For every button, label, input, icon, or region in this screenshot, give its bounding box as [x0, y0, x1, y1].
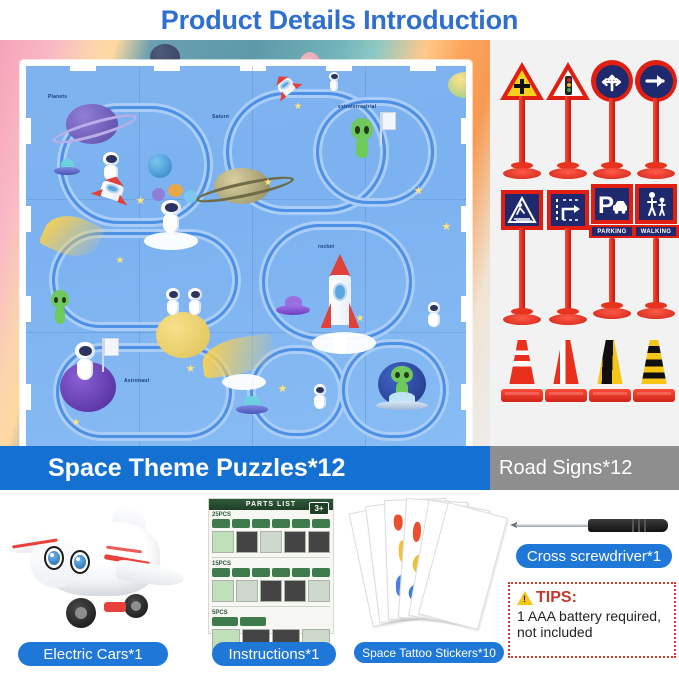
puzzles-banner-label: Space Theme Puzzles*12: [0, 454, 345, 483]
sign-crossroad: [496, 62, 548, 184]
traffic-light-sign-icon: [546, 62, 590, 100]
flag-icon-2: [102, 338, 120, 372]
puzzle-nub-top-5: [410, 60, 436, 71]
puzzle-nub-top-2: [154, 60, 180, 71]
puzzle-nub-top-4: [326, 60, 352, 71]
puzzle-nub-right-4: [461, 384, 472, 410]
star-icon-5: [442, 222, 451, 231]
flag-icon-1: [380, 112, 397, 146]
sign-turn-right: [630, 60, 679, 184]
astronaut-icon-8: [310, 384, 330, 410]
astronaut-icon-6: [424, 302, 444, 328]
tips-header: TIPS:: [517, 589, 667, 607]
puzzle-nub-right-3: [461, 296, 472, 322]
turn-right-sign-icon: [635, 60, 677, 102]
puzzle-nub-left-2: [20, 206, 31, 232]
puzzle-label-astronaut: Astronaut: [124, 378, 149, 384]
instructions-sheet: PARTS LIST 3+ 25PCS 15PCS: [208, 498, 334, 634]
warning-icon: [517, 591, 533, 605]
puzzle-label-planets: Planets: [48, 94, 67, 100]
astronaut-icon-5: [184, 288, 206, 316]
balloon-icon-3: [184, 190, 197, 203]
page-title-bar: Product Details Introduction: [0, 0, 679, 40]
cross-screwdriver-cell: Cross screwdriver*1 TIPS: 1 AAA battery …: [504, 490, 679, 682]
instructions-label[interactable]: Instructions*1: [212, 642, 336, 666]
instructions-section-2-chips: [209, 568, 333, 579]
instructions-section-1-tiles: [209, 530, 333, 556]
ufo-icon-4: [376, 392, 428, 412]
cross-screwdriver-icon: [510, 516, 670, 536]
space-tattoo-stickers-label[interactable]: Space Tattoo Stickers*10: [354, 642, 504, 663]
cloud-icon-2: [312, 332, 376, 354]
puzzle-nub-right-1: [461, 118, 472, 144]
merge-right-sign-icon: [547, 190, 589, 230]
age-badge: 3+: [309, 502, 329, 515]
space-tattoo-stickers-cell: Space Tattoo Stickers*10: [354, 490, 504, 682]
tips-text: 1 AAA battery required, not included: [517, 608, 667, 640]
walking-sign-label: WALKING: [633, 225, 679, 238]
ufo-icon-2: [276, 296, 310, 318]
product-detail-page: Product Details Introduction: [0, 0, 679, 682]
tips-label: TIPS:: [536, 589, 577, 607]
tips-box: TIPS: 1 AAA battery required, not includ…: [508, 582, 676, 658]
cross-screwdriver-label[interactable]: Cross screwdriver*1: [516, 544, 672, 568]
astronaut-icon-2: [326, 72, 342, 92]
sign-walking: WALKING: [630, 184, 679, 330]
saturn-planet-icon: [214, 168, 270, 204]
road-signs-banner: Road Signs*12: [490, 446, 679, 490]
moon-icon-1: [156, 312, 210, 358]
road-signs-banner-label: Road Signs*12: [490, 457, 632, 480]
balloon-icon-2: [168, 184, 183, 197]
green-planet-icon: [448, 72, 472, 98]
cloud-icon-3: [222, 374, 266, 390]
space-puzzle-mat: Planets Saturn: [20, 60, 472, 460]
instructions-section-2-count: 15PCS: [209, 559, 333, 568]
multi-direction-sign-icon: [591, 60, 633, 102]
instructions-section-2-tiles: [209, 579, 333, 605]
ringed-planet-icon: [66, 104, 118, 144]
astronaut-icon-3: [156, 200, 186, 234]
ufo-icon-3: [236, 396, 268, 416]
parking-sign-label: PARKING: [589, 225, 635, 238]
instructions-section-3-chips: [209, 617, 333, 628]
electric-cars-cell: Electric Cars*1: [0, 490, 190, 682]
page-title: Product Details Introduction: [161, 5, 518, 36]
puzzle-nub-right-2: [461, 206, 472, 232]
instructions-section-1-chips: [209, 519, 333, 530]
svg-text:P: P: [598, 192, 614, 218]
puzzle-label-saturn: Saturn: [212, 114, 229, 120]
traffic-cone-yellow-black-striped: [628, 340, 679, 402]
ufo-icon-1: [54, 159, 80, 177]
accessories-strip: Electric Cars*1 PARTS LIST 3+ 25PCS 15PC…: [0, 490, 679, 682]
sign-pedestrian-crossing: [496, 190, 548, 330]
puzzle-nub-top-1: [70, 60, 96, 71]
instructions-cell: PARTS LIST 3+ 25PCS 15PCS: [196, 490, 352, 682]
astronaut-icon-7: [70, 342, 100, 382]
puzzle-nub-left-1: [20, 118, 31, 144]
parking-sign-icon: P: [591, 184, 633, 224]
puzzle-nub-left-4: [20, 384, 31, 410]
puzzle-hero-image: Planets Saturn: [0, 40, 490, 490]
airplane-toy-icon: [8, 502, 183, 627]
balloon-icon-1: [152, 188, 165, 201]
astronaut-icon-4: [162, 288, 184, 316]
puzzles-banner: Space Theme Puzzles*12: [0, 446, 490, 490]
puzzle-label-extraterrestrial: extraterrestrial: [338, 104, 376, 110]
road-signs-image: P PARKING: [490, 40, 679, 490]
alien-icon-1: [348, 118, 376, 158]
crossroad-sign-icon: [500, 62, 544, 100]
pedestrian-crossing-sign-icon: [501, 190, 543, 230]
puzzle-nub-top-3: [240, 60, 266, 71]
cloud-icon-1: [144, 232, 198, 250]
electric-cars-label[interactable]: Electric Cars*1: [18, 642, 168, 666]
walking-sign-icon: [635, 184, 677, 224]
alien-icon-2: [48, 290, 72, 324]
large-rocket-icon: [318, 254, 362, 340]
instructions-section-3-count: 5PCS: [209, 608, 333, 617]
blue-planet-icon: [148, 154, 172, 178]
puzzle-nub-left-3: [20, 296, 31, 322]
puzzle-label-rocket: rocket: [318, 244, 334, 250]
